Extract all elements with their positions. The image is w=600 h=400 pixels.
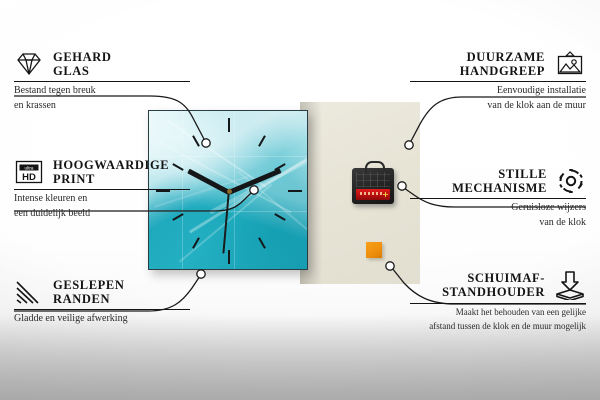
feature-rule xyxy=(14,81,190,82)
connector-dot-geslepen-randen xyxy=(197,270,205,278)
feature-geslepen-randen: GESLEPEN RANDEN Gladde en veilige afwerk… xyxy=(14,278,190,325)
spacer-arrow-icon xyxy=(554,270,586,300)
feature-desc-line1: Gladde en veilige afwerking xyxy=(14,313,190,325)
gear-icon xyxy=(556,167,586,195)
feature-desc-line1: Maakt het behouden van een gelijke xyxy=(410,307,586,318)
feature-desc-line2: een duidelijk beeld xyxy=(14,208,190,220)
feature-title-line1: GEHARD xyxy=(53,50,111,64)
feature-title-line1: SCHUIMAF- xyxy=(442,271,545,285)
beveled-edges-icon xyxy=(14,279,44,305)
feature-title-line2: MECHANISME xyxy=(452,181,547,195)
feature-title-line1: STILLE xyxy=(452,167,547,181)
diamond-icon xyxy=(14,51,44,77)
feature-desc-line1: Geruisloze wijzers xyxy=(410,202,586,214)
connector-dot-hoogwaardige-print xyxy=(250,186,258,194)
feature-rule xyxy=(410,303,586,304)
feature-duurzame-handgreep: DUURZAME HANDGREEP Eenvoudige installati… xyxy=(410,50,586,111)
ultra-hd-icon: ultra HD xyxy=(14,159,44,185)
picture-frame-icon xyxy=(554,51,586,77)
feature-desc-line2: afstand tussen de klok en de muur mogeli… xyxy=(410,321,586,332)
infographic-canvas: GEHARD GLAS Bestand tegen breuk en krass… xyxy=(0,0,600,400)
feature-title-line2: PRINT xyxy=(53,172,169,186)
feature-schuimafstandhouder: SCHUIMAF- STANDHOUDER Maakt het behouden… xyxy=(410,270,586,331)
connector-dot-gehard-glas xyxy=(202,139,210,147)
feature-title-line2: RANDEN xyxy=(53,292,125,306)
feature-stille-mechanisme: STILLE MECHANISME Geruisloze wijzers van… xyxy=(410,167,586,228)
feature-gehard-glas: GEHARD GLAS Bestand tegen breuk en krass… xyxy=(14,50,190,111)
feature-desc-line1: Intense kleuren en xyxy=(14,193,190,205)
feature-title-line2: GLAS xyxy=(53,64,111,78)
connector-dot-schuimafstandhouder xyxy=(386,262,394,270)
feature-title-line2: STANDHOUDER xyxy=(442,285,545,299)
feature-title-line1: DUURZAME xyxy=(460,50,545,64)
ultra-hd-icon-top-label: ultra xyxy=(25,166,34,171)
feature-desc-line2: van de klok aan de muur xyxy=(410,100,586,112)
feature-title-line1: GESLEPEN xyxy=(53,278,125,292)
feature-title-line2: HANDGREEP xyxy=(460,64,545,78)
feature-desc-line2: van de klok xyxy=(410,217,586,229)
feature-rule xyxy=(410,198,586,199)
ultra-hd-icon-main-label: HD xyxy=(22,172,36,183)
connector-dot-stille-mechanisme xyxy=(398,182,406,190)
feature-rule xyxy=(14,189,190,190)
feature-rule xyxy=(410,81,586,82)
feature-desc-line2: en krassen xyxy=(14,100,190,112)
feature-title-line1: HOOGWAARDIGE xyxy=(53,158,169,172)
feature-desc-line1: Bestand tegen breuk xyxy=(14,85,190,97)
feature-hoogwaardige-print: ultra HD HOOGWAARDIGE PRINT Intense kleu… xyxy=(14,158,190,219)
connector-dot-duurzame-handgreep xyxy=(405,141,413,149)
feature-rule xyxy=(14,309,190,310)
feature-desc-line1: Eenvoudige installatie xyxy=(410,85,586,97)
